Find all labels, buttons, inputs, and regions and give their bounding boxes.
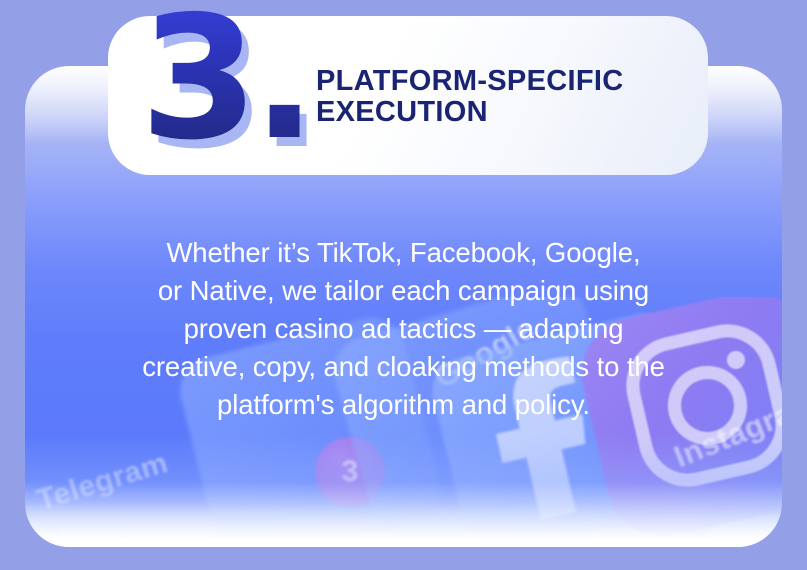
body-line-5: platform's algorithm and policy. bbox=[59, 386, 748, 424]
body-line-3: proven casino ad tactics — adapting bbox=[59, 310, 748, 348]
body-paragraph: Whether it’s TikTok, Facebook, Google, o… bbox=[25, 234, 782, 424]
body-line-2: or Native, we tailor each campaign using bbox=[59, 272, 748, 310]
step-number-fill: 3. bbox=[140, 0, 311, 178]
page-title: PLATFORM-SPECIFIC EXECUTION bbox=[316, 66, 623, 128]
page-title-line-2: EXECUTION bbox=[316, 97, 623, 128]
body-line-4: creative, copy, and cloaking methods to … bbox=[59, 348, 748, 386]
telegram-label: Telegram bbox=[33, 446, 172, 518]
telegram-notification-badge: 3 bbox=[315, 437, 385, 507]
body-line-1: Whether it’s TikTok, Facebook, Google, bbox=[59, 234, 748, 272]
slide-canvas: Telegram 3 Google Instagram bbox=[0, 0, 807, 570]
page-title-line-1: PLATFORM-SPECIFIC bbox=[316, 66, 623, 97]
step-number: 3. 3. bbox=[140, 0, 311, 164]
